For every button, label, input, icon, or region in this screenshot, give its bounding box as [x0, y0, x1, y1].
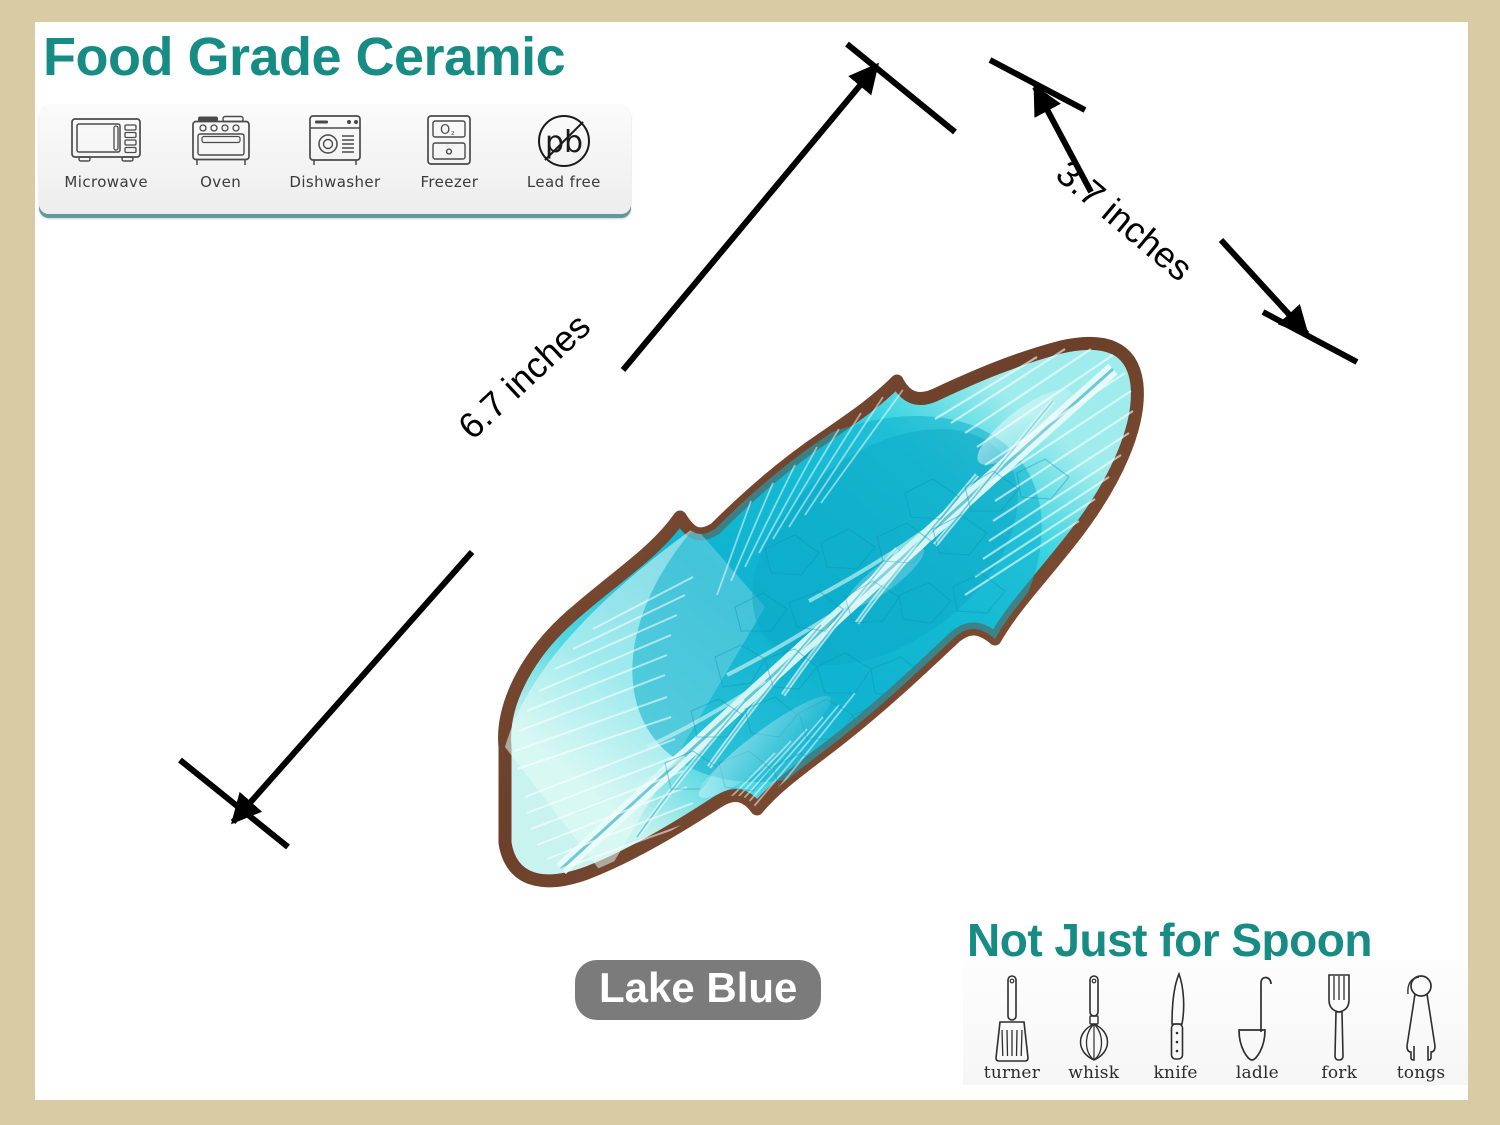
utensil-label: knife	[1154, 1063, 1198, 1083]
badge-label: Lead free	[527, 173, 601, 191]
image-canvas: Food Grade Ceramic	[35, 22, 1468, 1100]
turner-icon	[990, 969, 1034, 1062]
utensil-whisk: whisk	[1053, 969, 1135, 1083]
ladle-icon	[1235, 969, 1279, 1062]
color-name-badge: Lake Blue	[575, 960, 821, 1020]
badge-label: Microwave	[64, 173, 148, 191]
utensil-knife: knife	[1135, 969, 1217, 1083]
spoon-section-heading: Not Just for Spoon	[967, 917, 1372, 963]
freezer-icon: O ₂	[424, 110, 474, 172]
utensil-label: turner	[984, 1063, 1040, 1083]
utensil-label: fork	[1321, 1063, 1357, 1083]
dishwasher-icon	[306, 110, 364, 172]
page-title: Food Grade Ceramic	[43, 30, 565, 84]
utensil-ladle: ladle	[1216, 969, 1298, 1083]
utensil-panel: turner whisk	[963, 960, 1468, 1085]
whisk-icon	[1074, 969, 1114, 1062]
dimension-width-label: 3.7 inches	[1048, 152, 1201, 290]
badge-microwave: Microwave	[49, 110, 163, 210]
product-infographic: Food Grade Ceramic	[0, 0, 1500, 1125]
utensil-label: whisk	[1068, 1063, 1119, 1083]
badge-label: Dishwasher	[289, 173, 380, 191]
utensil-label: tongs	[1397, 1063, 1446, 1083]
utensil-turner: turner	[971, 969, 1053, 1083]
microwave-icon	[70, 110, 142, 172]
badge-freezer: O ₂ Freezer	[392, 110, 506, 210]
feature-badge-panel: Microwave	[39, 104, 631, 214]
badge-label: Oven	[200, 173, 241, 191]
tongs-icon	[1399, 969, 1443, 1062]
product-image-leaf-plate	[465, 277, 1155, 937]
badge-oven: Oven	[163, 110, 277, 210]
svg-text:₂: ₂	[451, 128, 455, 138]
badge-label: Freezer	[420, 173, 478, 191]
utensil-fork: fork	[1298, 969, 1380, 1083]
oven-icon	[189, 110, 253, 172]
fork-icon	[1322, 969, 1356, 1062]
knife-icon	[1159, 969, 1193, 1062]
utensil-label: ladle	[1236, 1063, 1279, 1083]
badge-lead-free: pb Lead free	[507, 110, 621, 210]
lead-free-icon: pb	[535, 110, 593, 172]
utensil-tongs: tongs	[1380, 969, 1462, 1083]
svg-text:O: O	[440, 123, 450, 138]
badge-dishwasher: Dishwasher	[278, 110, 392, 210]
